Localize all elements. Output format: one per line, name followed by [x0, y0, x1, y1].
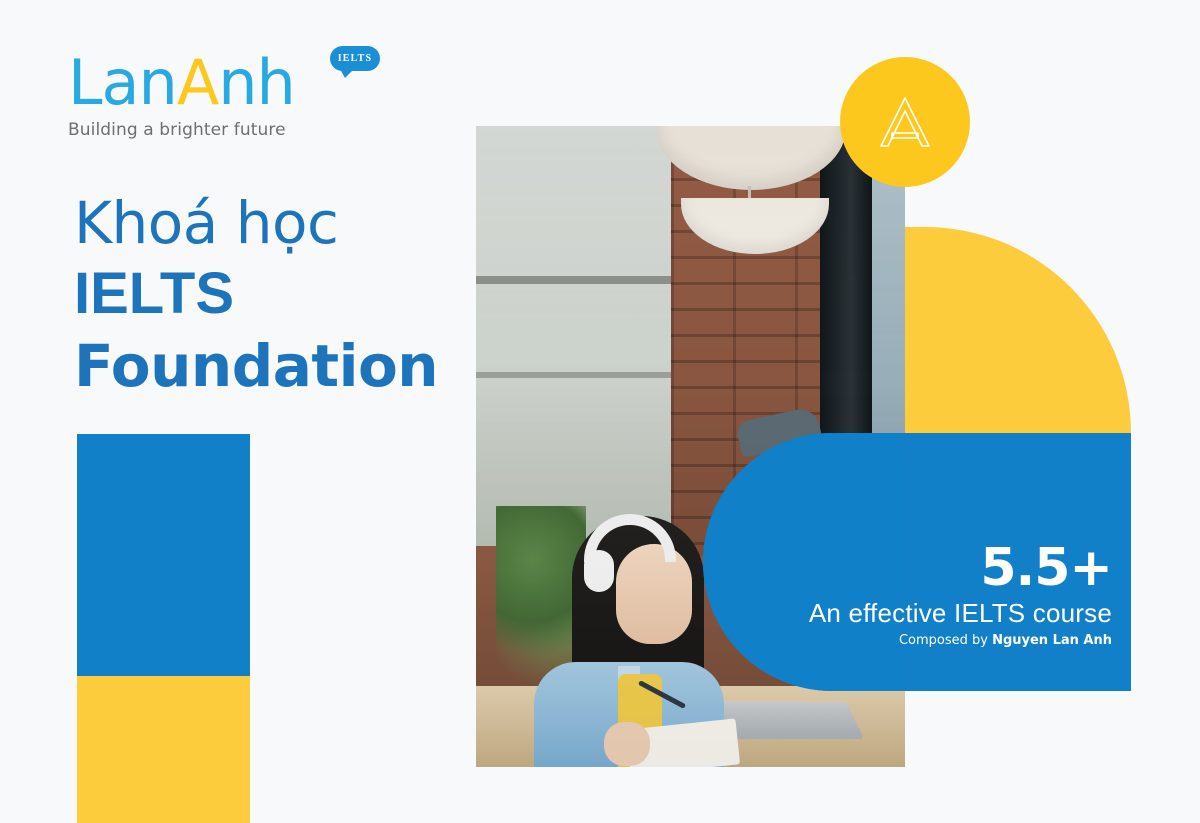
logo-text-lan: Lan	[68, 46, 177, 119]
decorative-blue-bar	[77, 434, 250, 676]
logo-text-a: A	[177, 46, 218, 119]
decorative-yellow-circle	[840, 57, 970, 187]
author-label: Composed by	[899, 633, 992, 648]
logo-wordmark: LanAnh IELTS	[68, 52, 398, 116]
headline-line-2: IELTS	[74, 258, 494, 330]
logo-tagline: Building a brighter future	[68, 120, 398, 140]
page-title: Khoá học IELTS Foundation	[74, 188, 494, 402]
course-subtitle: An effective IELTS course	[700, 596, 1112, 630]
headline-line-1: Khoá học	[74, 188, 494, 258]
poster-canvas: LanAnh IELTS Building a brighter future …	[0, 0, 1200, 823]
author-name: Nguyen Lan Anh	[992, 633, 1112, 648]
decorative-yellow-quarter-circle	[905, 227, 1131, 433]
logo-ielts-badge: IELTS	[330, 46, 380, 71]
target-score: 5.5+	[700, 540, 1112, 596]
course-highlight-block: 5.5+ An effective IELTS course Composed …	[700, 540, 1112, 650]
decorative-yellow-bar	[77, 676, 250, 823]
course-author: Composed by Nguyen Lan Anh	[700, 632, 1112, 650]
brand-logo[interactable]: LanAnh IELTS Building a brighter future	[68, 52, 398, 147]
monogram-a-icon	[840, 57, 970, 187]
headline-line-3: Foundation	[74, 330, 494, 402]
logo-text-nh: nh	[218, 46, 295, 119]
